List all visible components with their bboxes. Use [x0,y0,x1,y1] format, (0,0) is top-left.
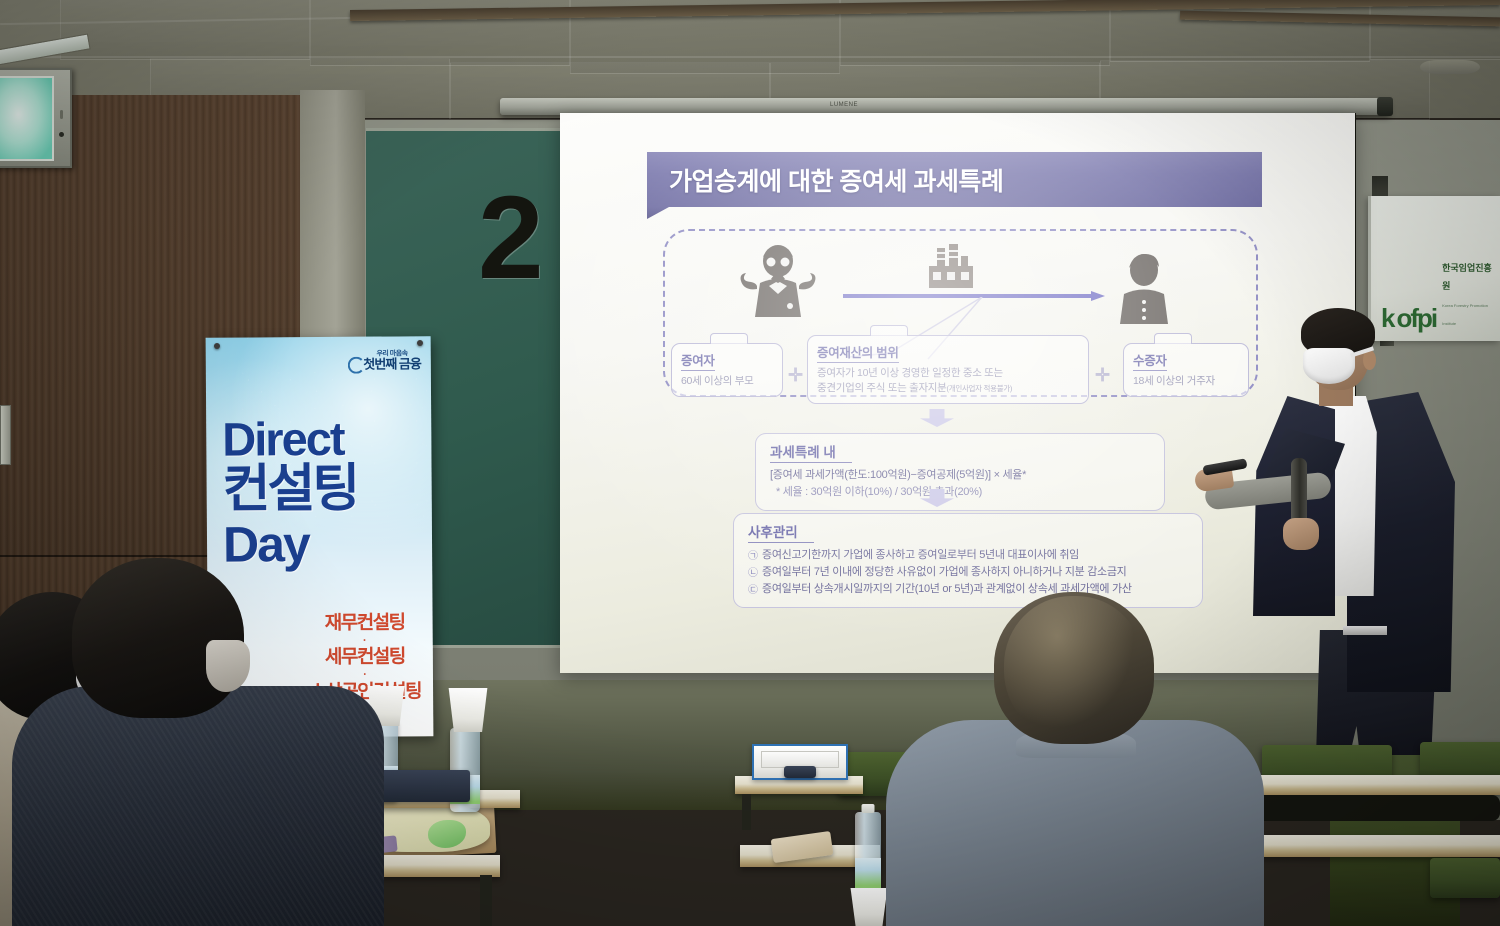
banner-pin [417,340,423,346]
post-item-text: 증여일부터 7년 이내에 정당한 사유없이 가업에 종사하지 아니하거나 지분 … [762,564,1127,581]
light-switch[interactable] [0,405,11,465]
dark-case [784,766,816,778]
bubble-scope-line1: 증여자가 10년 이상 경영한 일정한 중소 또는 [817,366,1079,381]
attendee-front-left-navy-jacket [30,558,370,926]
post-management-item: ㉠ 증여신고기한까지 가업에 종사하고 증여일로부터 5년내 대표이사에 취임 [748,547,1188,564]
bubble-scope-line2: 중견기업의 주식 또는 출자지분(개인사업자 적용불가) [817,381,1079,396]
desk [1248,775,1500,795]
post-management-item: ㉡ 증여일부터 7년 이내에 정당한 사유없이 가업에 종사하지 아니하거나 지… [748,564,1188,581]
paper-cup [848,888,890,926]
plus-symbol-1: ✛ [788,365,803,386]
banner-heading-direct: Direct [222,417,344,462]
elderly-man-flexing-icon [733,243,823,323]
slide-title: 가업승계에 대한 증여세 과세특례 [669,162,1003,198]
face-mask-icon [206,640,250,692]
post-item-mark: ㉡ [748,564,758,581]
bubble-tail [1154,333,1192,344]
water-bottle [855,812,881,900]
bubble-scope-title: 증여재산의 범위 [817,342,899,363]
room-number: 2 [478,170,540,306]
bubble-giver: 증여자 60세 이상의 부모 [671,343,783,397]
attendee-body [12,686,384,926]
chair[interactable] [1430,858,1500,898]
banner-pin [214,343,220,349]
bubble-scope-line2-note: (개인사업자 적용불가) [947,384,1013,393]
bubble-tail [870,325,908,336]
bubble-receiver-title: 수증자 [1133,350,1167,371]
desk-leg [742,794,751,830]
attendee-head [72,558,244,718]
desk-shadow [1248,795,1500,821]
panel-special-tax: 과세특례 내 [증여세 과세가액(한도:100억원)−증여공제(5억원)] × … [755,433,1165,511]
bottle-cap [862,804,875,813]
ceiling-vent [1420,60,1480,74]
roller-end-cap [1377,97,1393,116]
bottle-label [855,858,881,888]
panel-special-tax-rate-note: * 세율 : 30억원 이하(10%) / 30억원 초과(20%) [770,484,1150,501]
young-person-icon [1113,252,1175,324]
down-arrow-icon-1 [920,409,954,427]
roller-brand-label: LUMENE [830,102,858,108]
post-item-mark: ㉢ [748,581,758,598]
wall-monitor-screen [0,76,54,161]
presenter-belt [1343,626,1387,635]
bubble-scope: 증여재산의 범위 증여자가 10년 이상 경영한 일정한 중소 또는 중견기업의… [807,335,1089,404]
kofpi-korean-name: 한국임업진흥원 [1442,263,1492,291]
bubble-tail [710,333,748,344]
banner-logo: 우리 마음속 첫번째 금융 [363,350,421,370]
banner-logo-main: 첫번째 금융 [363,357,421,370]
wall-monitor[interactable] [0,68,72,168]
seminar-room-scene: 2 k ofpi 한국임업진흥원 Korea Forestry Promotio… [0,0,1500,926]
desk [1248,835,1500,857]
presenter-mic-hand [1283,518,1319,550]
slide-title-bar: 가업승계에 대한 증여세 과세특례 [647,152,1262,207]
factory-icon [925,242,977,290]
monitor-power-led-icon [59,132,64,137]
monitor-vent-icon [60,110,63,119]
panel-special-tax-title: 과세특례 내 [770,441,852,463]
attendee-front-right-gray-shirt [890,592,1260,926]
post-item-mark: ㉠ [748,547,758,564]
bubble-scope-line2-text: 중견기업의 주식 또는 출자지분 [817,382,947,394]
attendee-head [994,592,1154,744]
post-item-text: 증여신고기한까지 가업에 종사하고 증여일로부터 5년내 대표이사에 취임 [762,547,1079,564]
plus-symbol-2: ✛ [1095,365,1110,386]
bubble-giver-desc: 60세 이상의 부모 [681,374,773,389]
banner-heading-consulting: 컨설팅 [222,465,357,515]
ceiling-light [0,33,91,66]
panel-post-management-title: 사후관리 [748,521,814,543]
bubble-giver-title: 증여자 [681,350,715,371]
panel-special-tax-formula: [증여세 과세가액(한도:100억원)−증여공제(5억원)] × 세율* [770,467,1150,484]
face-mask-icon [1303,348,1355,384]
logo-ring-icon [347,357,364,374]
desk-leg [480,875,492,926]
